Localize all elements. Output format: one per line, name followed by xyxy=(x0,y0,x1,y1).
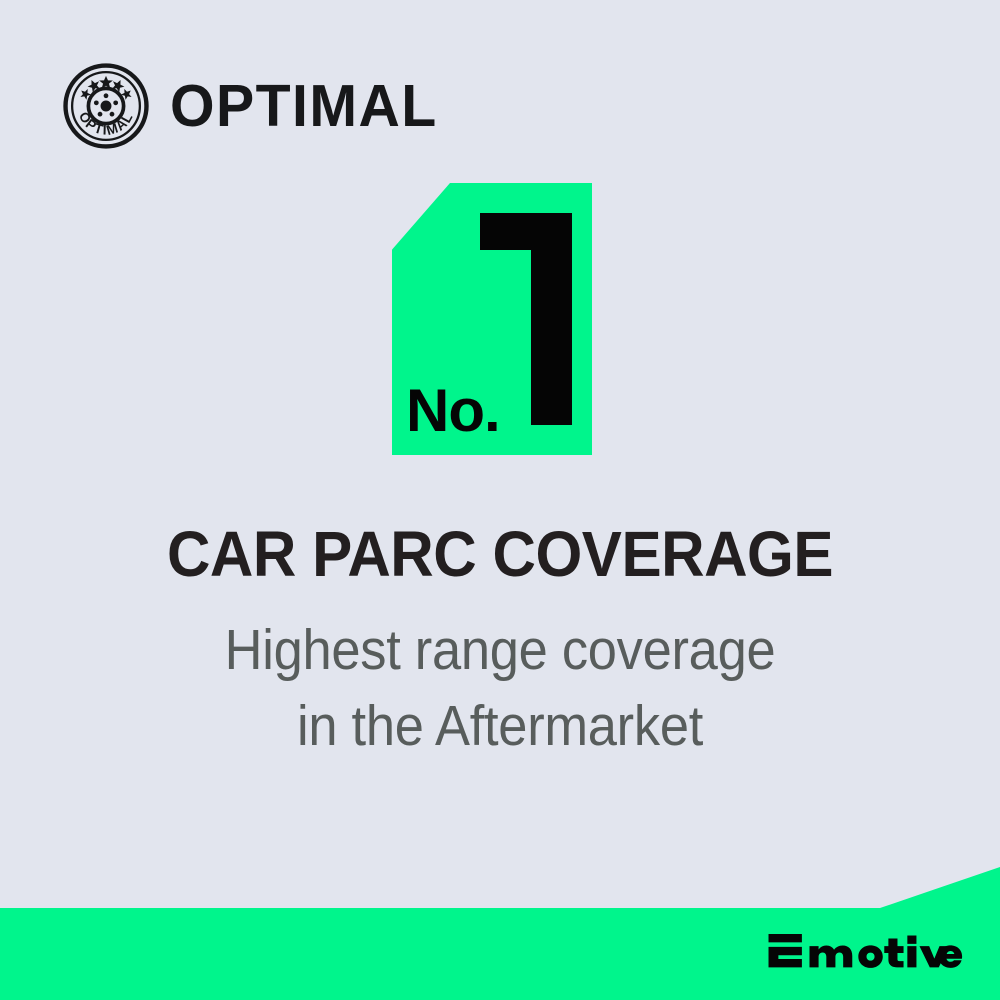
footer-bar xyxy=(0,860,1000,1000)
poster-copy-block: CAR PARC COVERAGE Highest range coverage… xyxy=(0,522,1000,764)
optimal-brand-lockup: OPTIMAL OPTIMAL xyxy=(62,62,446,150)
poster-canvas: OPTIMAL OPTIMAL No. CAR PARC COVERAGE xyxy=(0,0,1000,1000)
optimal-wordmark: OPTIMAL xyxy=(170,77,438,136)
optimal-wheel-emblem-icon: OPTIMAL xyxy=(62,62,150,150)
emotive-wordmark-logo xyxy=(767,934,964,978)
page-subtitle-line-1: Highest range coverage xyxy=(40,613,960,688)
page-subtitle-line-2: in the Aftermarket xyxy=(40,689,960,764)
badge-prefix-label: No. xyxy=(406,381,500,441)
page-subtitle: Highest range coverage in the Aftermarke… xyxy=(40,613,960,763)
page-title: CAR PARC COVERAGE xyxy=(30,522,970,587)
no1-badge: No. xyxy=(392,183,592,455)
